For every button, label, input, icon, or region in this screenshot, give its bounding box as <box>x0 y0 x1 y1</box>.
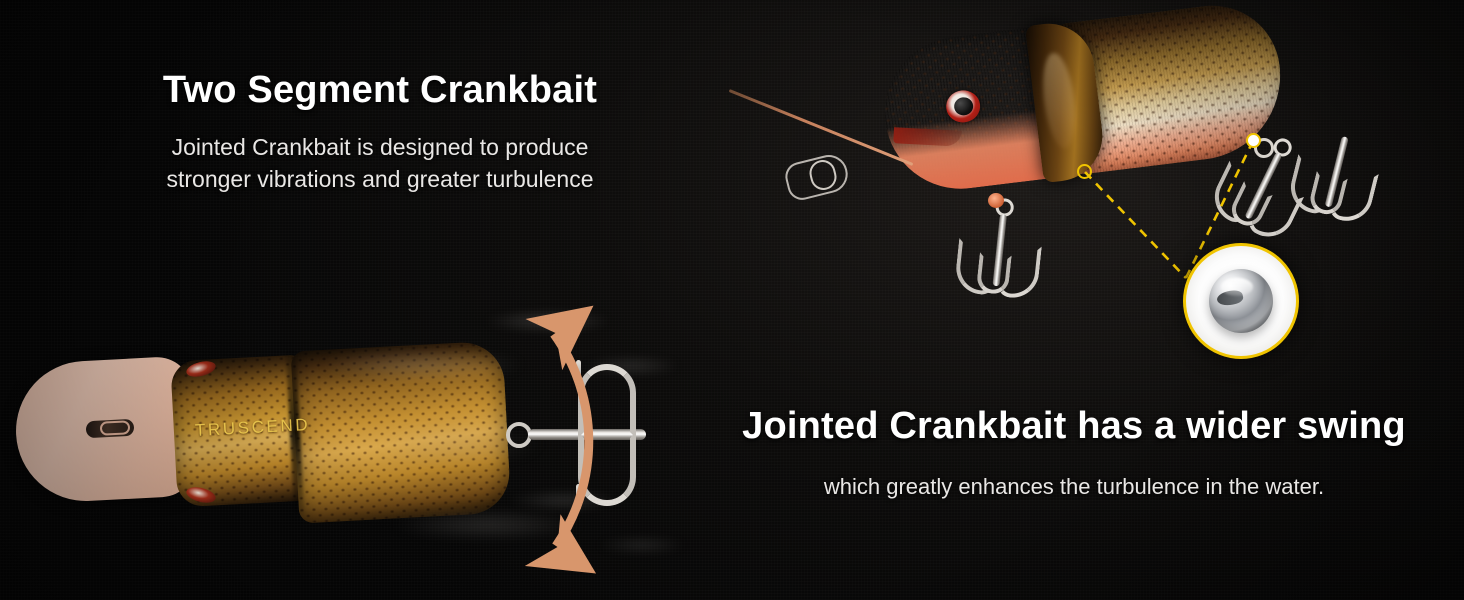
callout-dot-icon <box>1246 133 1261 148</box>
bottom-right-copy-block: Jointed Crankbait has a wider swing whic… <box>684 404 1464 502</box>
top-lure-pupil <box>953 96 974 116</box>
bottom-right-subline: which greatly enhances the turbulence in… <box>684 471 1464 502</box>
scale-pattern <box>291 341 512 524</box>
top-left-headline: Two Segment Crankbait <box>0 68 760 113</box>
belly-hanger-dot <box>988 193 1004 208</box>
top-left-subline: Jointed Crankbait is designed to produce… <box>0 131 760 196</box>
callout-dot-icon <box>1077 164 1092 179</box>
bottom-lure-rear-segment <box>291 341 512 524</box>
lip-line-tie-wire <box>100 420 131 436</box>
product-feature-banner: TRUSCEND Two Segment Crankbait Jointed C… <box>0 0 1464 600</box>
magnifier-icon <box>1183 243 1299 359</box>
top-left-copy-block: Two Segment Crankbait Jointed Crankbait … <box>0 68 760 196</box>
ball-highlight <box>1221 278 1253 296</box>
top-left-subline-line1: Jointed Crankbait is designed to produce <box>0 131 760 164</box>
bottom-right-headline: Jointed Crankbait has a wider swing <box>684 404 1464 449</box>
top-left-subline-line2: stronger vibrations and greater turbulen… <box>0 163 760 196</box>
joint-highlight <box>1038 51 1079 150</box>
steel-ball-bearing <box>1209 269 1273 333</box>
swing-arrow-icon <box>496 290 696 590</box>
